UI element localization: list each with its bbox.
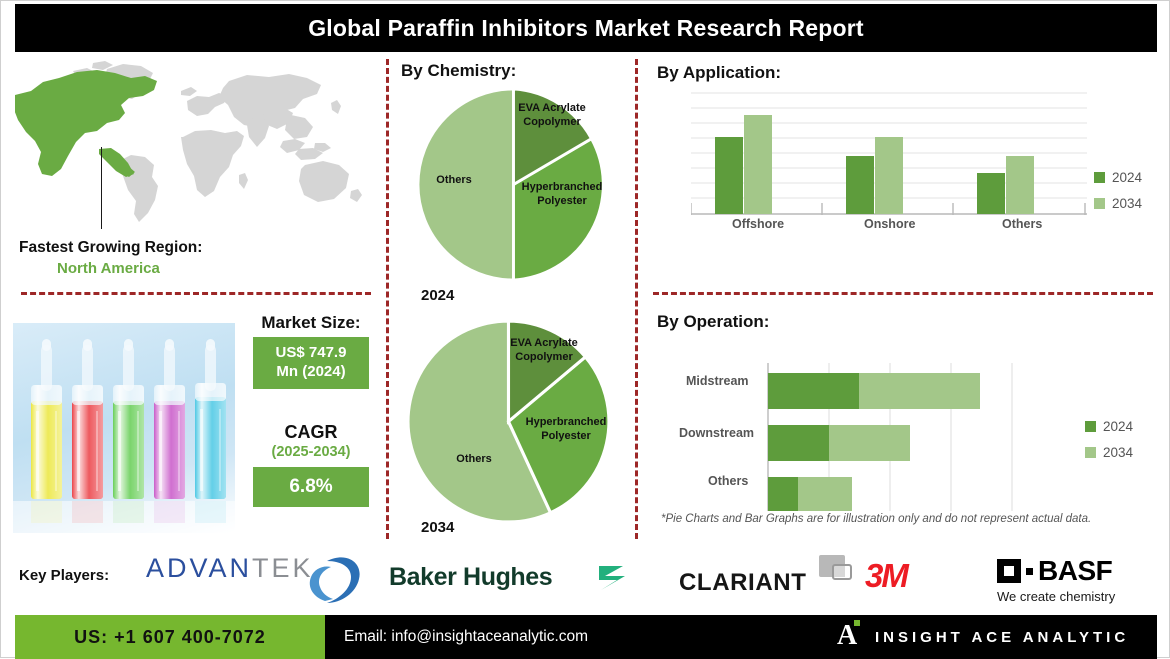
page-title: Global Paraffin Inhibitors Market Resear…	[308, 15, 864, 42]
basf-tagline: We create chemistry	[997, 589, 1115, 604]
advantek-logo: ADVAN TEK	[146, 553, 314, 584]
footer-phone-block: US: +1 607 400-7072	[15, 615, 325, 659]
basf-dot-icon	[1026, 568, 1033, 575]
pie-2024-year: 2024	[421, 287, 454, 304]
legend-label-op-2034: 2034	[1103, 445, 1133, 460]
insight-ace-dot-icon	[854, 620, 860, 626]
legend-swatch-2024	[1094, 172, 1105, 183]
legend-by-operation: 2024 2034	[1085, 419, 1133, 460]
divider-horizontal-right	[653, 292, 1153, 295]
pie-chart-2024	[416, 87, 611, 282]
legend-swatch-2034	[1094, 198, 1105, 209]
market-size-line2: Mn (2024)	[276, 363, 345, 382]
cagr-value-box: 6.8%	[253, 467, 369, 507]
pie-2034-year: 2034	[421, 519, 454, 536]
basf-square-icon	[997, 559, 1021, 583]
fastest-region-label: Fastest Growing Region:	[19, 239, 202, 257]
section-title-by-application: By Application:	[657, 63, 781, 83]
baker-hughes-mark-icon	[595, 561, 629, 595]
advantek-logo-text-primary: ADVAN	[146, 553, 252, 584]
legend-item-2034: 2034	[1094, 196, 1142, 211]
market-size-value-box: US$ 747.9 Mn (2024)	[253, 337, 369, 389]
header-bar: Global Paraffin Inhibitors Market Resear…	[15, 4, 1157, 52]
op-category-others: Others	[708, 474, 748, 488]
market-size-line1: US$ 747.9	[276, 344, 347, 363]
app-category-onshore: Onshore	[864, 217, 915, 231]
3m-logo: 3M	[865, 557, 907, 595]
pie-chart-2034	[406, 319, 611, 524]
legend-by-application: 2024 2034	[1094, 170, 1142, 211]
app-category-others: Others	[1002, 217, 1042, 231]
section-title-by-chemistry: By Chemistry:	[401, 61, 516, 81]
legend-item-2024: 2024	[1094, 170, 1142, 185]
stacked-bar-chart-by-operation	[767, 363, 1017, 511]
op-category-downstream: Downstream	[679, 426, 754, 440]
cagr-title: CAGR	[251, 422, 371, 443]
legend-swatch-op-2034	[1085, 447, 1096, 458]
legend-item-op-2034: 2034	[1085, 445, 1133, 460]
legend-swatch-op-2024	[1085, 421, 1096, 432]
legend-label-2034: 2034	[1112, 196, 1142, 211]
legend-label-2024: 2024	[1112, 170, 1142, 185]
app-category-offshore: Offshore	[732, 217, 784, 231]
baker-hughes-logo: Baker Hughes	[389, 563, 552, 592]
footer-email-text: Email: info@insightaceanalytic.com	[344, 628, 588, 646]
advantek-swoosh-icon	[303, 553, 367, 611]
clariant-logo: CLARIANT	[679, 569, 806, 597]
basf-logo-mark-row: BASF	[997, 555, 1112, 587]
section-title-by-operation: By Operation:	[657, 312, 769, 332]
divider-horizontal-left	[21, 292, 371, 295]
ampoules-image	[13, 323, 235, 533]
footer-contact-block: Email: info@insightaceanalytic.com A INS…	[325, 615, 1157, 659]
cagr-period: (2025-2034)	[251, 444, 371, 460]
chart-disclaimer: *Pie Charts and Bar Graphs are for illus…	[661, 513, 1091, 525]
op-category-midstream: Midstream	[686, 374, 749, 388]
basf-logo-text: BASF	[1038, 555, 1112, 587]
divider-vertical-left	[386, 59, 389, 539]
insight-ace-brand-text: INSIGHT ACE ANALYTIC	[875, 629, 1129, 646]
legend-label-op-2024: 2024	[1103, 419, 1133, 434]
basf-logo: BASF We create chemistry	[997, 555, 1115, 604]
footer-phone-text: US: +1 607 400-7072	[74, 627, 266, 648]
divider-vertical-right	[635, 59, 638, 539]
clariant-mark-icon	[819, 555, 853, 587]
market-size-title: Market Size:	[251, 313, 371, 333]
key-players-label: Key Players:	[19, 567, 109, 584]
legend-item-op-2024: 2024	[1085, 419, 1133, 434]
insight-ace-analytic-logo: A INSIGHT ACE ANALYTIC	[837, 621, 1129, 653]
bar-chart-by-application	[691, 91, 1087, 216]
insight-ace-mark-icon: A	[837, 621, 861, 653]
map-pointer-line	[101, 147, 102, 229]
world-map	[15, 57, 375, 232]
fastest-region-value: North America	[57, 260, 160, 277]
